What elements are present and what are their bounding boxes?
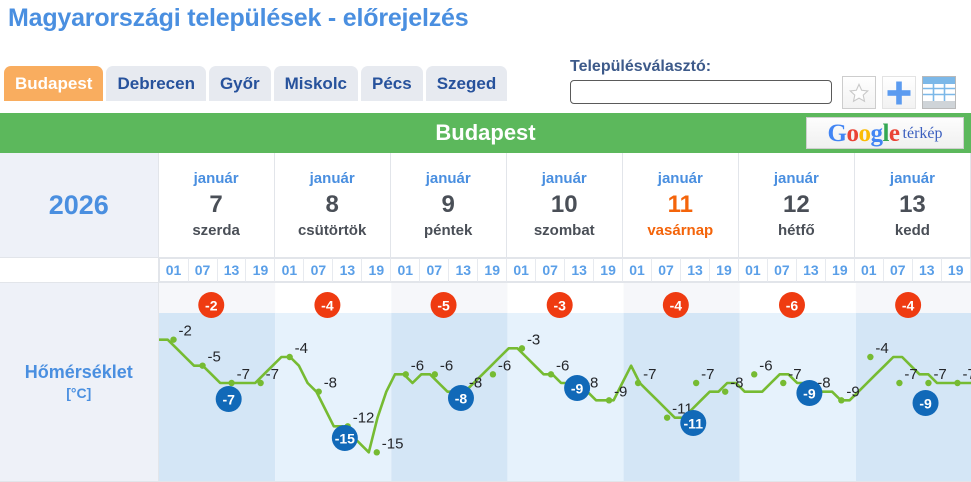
day-band (507, 313, 623, 481)
tab-label: Pécs (372, 74, 412, 93)
date-weekday: csütörtök (275, 220, 390, 242)
data-point (199, 362, 205, 368)
daily-max-label: -5 (437, 298, 450, 314)
data-point-label: -7 (788, 366, 801, 383)
data-point (402, 371, 408, 377)
city-header-bar: Budapest Google térkép (0, 113, 971, 153)
daily-max-label: -4 (669, 298, 682, 314)
data-point-label: -6 (410, 357, 423, 374)
tab-szeged[interactable]: Szeged (426, 66, 508, 101)
hour-tick: 13 (681, 258, 710, 282)
favorite-star-button[interactable] (842, 76, 876, 109)
date-cell-8: január8csütörtök (274, 153, 390, 258)
google-logo-letter: o (846, 120, 858, 147)
data-point-label: -5 (207, 349, 220, 366)
tab-miskolc[interactable]: Miskolc (274, 66, 358, 101)
daily-max-label: -6 (785, 298, 798, 314)
data-point (431, 371, 437, 377)
tab-label: Budapest (15, 74, 92, 93)
data-point-label: -8 (323, 375, 336, 392)
data-point-label: -6 (497, 357, 510, 374)
hour-tick: 13 (333, 258, 362, 282)
date-weekday: hétfő (739, 220, 854, 242)
tab-label: Miskolc (285, 74, 347, 93)
date-day-number: 12 (739, 190, 854, 220)
daily-min-label: -9 (570, 381, 583, 397)
data-point-label: -7 (933, 366, 946, 383)
star-icon (848, 82, 870, 104)
data-point-label: -12 (352, 409, 374, 426)
hour-tick: 01 (391, 258, 420, 282)
google-map-badge[interactable]: Google térkép (806, 117, 964, 149)
data-point (780, 380, 786, 386)
data-point-label: -4 (294, 340, 307, 357)
city-selector-label: Településválasztó: (570, 58, 711, 76)
data-point (954, 380, 960, 386)
data-point-label: -7 (265, 366, 278, 383)
data-point (518, 345, 524, 351)
data-point-label: -6 (439, 357, 452, 374)
temperature-chart: -2-5-7-7-4-8-12-15-6-6-8-6-3-6-8-9-7-11-… (159, 283, 971, 481)
data-point-label: -7 (962, 366, 971, 383)
data-point (489, 371, 495, 377)
temperature-chart-svg: -2-5-7-7-4-8-12-15-6-6-8-6-3-6-8-9-7-11-… (159, 283, 971, 481)
data-point (722, 388, 728, 394)
hour-tick: 07 (884, 258, 913, 282)
date-weekday: szerda (159, 220, 274, 242)
daily-max-label: -2 (205, 298, 218, 314)
hour-tick: 13 (913, 258, 942, 282)
hour-row-spacer (0, 258, 158, 283)
data-point (751, 371, 757, 377)
hour-tick: 07 (304, 258, 333, 282)
google-logo-letter: o (858, 120, 870, 147)
temperature-row: Hőmérséklet [°C] -2-5-7-7-4-8-12-15-6-6-… (0, 283, 971, 482)
data-point (547, 371, 553, 377)
date-month: január (159, 168, 274, 190)
hour-tick: 13 (797, 258, 826, 282)
google-logo-letter: G (828, 120, 847, 147)
tab-label: Győr (220, 74, 260, 93)
data-point (896, 380, 902, 386)
data-point-label: -2 (178, 323, 191, 340)
data-point (605, 397, 611, 403)
date-month: január (855, 168, 970, 190)
table-view-button[interactable] (922, 76, 956, 109)
data-point (867, 354, 873, 360)
temperature-unit-text: [°C] (0, 384, 158, 403)
hour-tick: 19 (826, 258, 855, 282)
date-cell-7: január7szerda (158, 153, 274, 258)
google-logo: Google (828, 121, 900, 146)
data-point (170, 336, 176, 342)
daily-min-label: -11 (683, 416, 703, 432)
hour-tick: 07 (536, 258, 565, 282)
data-point-label: -8 (468, 375, 481, 392)
google-logo-letter: g (870, 120, 882, 147)
tab-győr[interactable]: Győr (209, 66, 271, 101)
date-weekday: kedd (855, 220, 970, 242)
tab-label: Szeged (437, 74, 497, 93)
data-point-label: -7 (701, 366, 714, 383)
hour-tick: 13 (565, 258, 594, 282)
hour-tick: 19 (710, 258, 739, 282)
date-month: január (275, 168, 390, 190)
google-map-label: térkép (903, 121, 943, 146)
data-point (228, 380, 234, 386)
data-point (286, 354, 292, 360)
day-band (623, 313, 739, 481)
data-point (838, 397, 844, 403)
data-point-label: -9 (614, 383, 627, 400)
tab-budapest[interactable]: Budapest (4, 66, 103, 101)
data-point (664, 414, 670, 420)
tab-debrecen[interactable]: Debrecen (106, 66, 205, 101)
forecast-table: 2026 január7szerdajanuár8csütörtökjanuár… (0, 153, 971, 482)
data-point (257, 380, 263, 386)
hour-tick: 07 (420, 258, 449, 282)
city-tabbar: BudapestDebrecenGyőrMiskolcPécsSzeged (4, 66, 507, 101)
date-day-number: 9 (391, 190, 506, 220)
tab-pécs[interactable]: Pécs (361, 66, 423, 101)
date-day-number: 7 (159, 190, 274, 220)
data-point-label: -9 (846, 383, 859, 400)
temperature-label-text: Hőmérséklet (0, 361, 158, 384)
date-day-number: 10 (507, 190, 622, 220)
date-weekday: péntek (391, 220, 506, 242)
hour-tick: 01 (739, 258, 768, 282)
date-weekday: vasárnap (623, 220, 738, 242)
city-search-input[interactable] (570, 80, 832, 104)
hour-tick: 07 (189, 258, 218, 282)
hour-tick: 19 (362, 258, 391, 282)
date-cell-13: január13kedd (854, 153, 970, 258)
daily-max-label: -3 (553, 298, 566, 314)
temperature-row-label: Hőmérséklet [°C] (0, 283, 158, 482)
date-day-number: 8 (275, 190, 390, 220)
data-point (693, 380, 699, 386)
add-city-button[interactable] (882, 76, 916, 109)
daily-min-label: -9 (803, 386, 816, 402)
hour-tick-row: 0107131901071319010713190107131901071319… (0, 258, 971, 283)
daily-min-label: -8 (454, 391, 467, 407)
hour-tick: 01 (507, 258, 536, 282)
hour-tick-container: 0107131901071319010713190107131901071319… (158, 258, 970, 283)
hour-tick: 01 (623, 258, 652, 282)
data-point-label: -7 (904, 366, 917, 383)
year-cell: 2026 (0, 153, 158, 258)
data-point-label: -6 (759, 357, 772, 374)
date-day-number: 13 (855, 190, 970, 220)
day-band (275, 313, 391, 481)
day-band (855, 313, 971, 481)
hour-tick: 13 (218, 258, 247, 282)
data-point-label: -3 (527, 331, 540, 348)
date-month: január (623, 168, 738, 190)
hour-tick: 01 (275, 258, 304, 282)
hour-tick: 19 (594, 258, 623, 282)
date-month: január (391, 168, 506, 190)
daily-max-label: -4 (321, 298, 334, 314)
data-point-label: -8 (730, 375, 743, 392)
date-header-row: 2026 január7szerdajanuár8csütörtökjanuár… (0, 153, 971, 258)
daily-max-label: -4 (901, 298, 914, 314)
data-point-label: -7 (236, 366, 249, 383)
google-logo-letter: e (889, 120, 900, 147)
data-point-label: -4 (875, 340, 888, 357)
date-month: január (739, 168, 854, 190)
date-day-number: 11 (623, 190, 738, 220)
daily-min-label: -15 (334, 431, 354, 447)
hour-tick: 19 (942, 258, 971, 282)
data-point (315, 388, 321, 394)
hour-tick: 07 (652, 258, 681, 282)
date-weekday: szombat (507, 220, 622, 242)
temperature-chart-cell: -2-5-7-7-4-8-12-15-6-6-8-6-3-6-8-9-7-11-… (158, 283, 970, 482)
hour-tick: 01 (159, 258, 189, 282)
data-point (373, 449, 379, 455)
date-cell-9: január9péntek (390, 153, 506, 258)
hour-tick: 19 (478, 258, 507, 282)
hour-tick: 07 (768, 258, 797, 282)
grid-icon (923, 77, 955, 108)
data-point (634, 380, 640, 386)
data-point-label: -6 (556, 357, 569, 374)
data-point-label: -7 (643, 366, 656, 383)
date-cell-10: január10szombat (506, 153, 622, 258)
page-title: Magyarországi települések - előrejelzés (8, 4, 468, 33)
hour-tick: 01 (855, 258, 884, 282)
daily-min-label: -9 (919, 396, 932, 412)
hour-tick: 19 (246, 258, 275, 282)
data-point-label: -15 (381, 435, 403, 452)
date-cell-11: január11vasárnap (622, 153, 738, 258)
tab-label: Debrecen (117, 74, 194, 93)
daily-min-label: -7 (222, 392, 235, 408)
data-point (925, 380, 931, 386)
date-cell-12: január12hétfő (738, 153, 854, 258)
date-month: január (507, 168, 622, 190)
plus-icon (886, 80, 912, 106)
hour-tick: 13 (449, 258, 478, 282)
